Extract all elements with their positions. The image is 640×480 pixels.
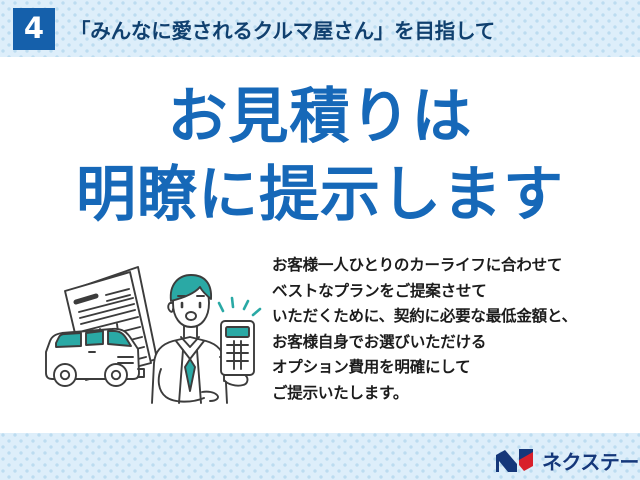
body-copy-line: お客様自身でお選びいただける	[272, 330, 632, 356]
brand-logo: ネクステージ	[495, 446, 640, 474]
headline-line-2: 明瞭に提示します	[0, 165, 640, 225]
headline-line-1: お見積りは	[0, 87, 640, 147]
body-copy-line: ご提示いたします。	[272, 381, 632, 407]
body-copy-line: ベストなプランをご提案させて	[272, 279, 632, 305]
promo-banner: 4 「みんなに愛されるクルマ屋さん」を目指して お見積りは 明瞭に提示します お…	[0, 0, 640, 480]
brand-name: ネクステージ	[542, 446, 640, 475]
step-number-badge: 4	[13, 8, 55, 50]
content-panel: お見積りは 明瞭に提示します お客様一人ひとりのカーライフに合わせて ベストなプ…	[0, 63, 640, 433]
body-copy-line: いただくために、契約に必要な最低金額と、	[272, 304, 632, 330]
sparkle-icon	[219, 298, 260, 315]
illustration-salesperson-estimate	[34, 251, 266, 413]
nextage-n-mark-icon	[495, 448, 535, 473]
calculator-illustration	[221, 321, 254, 375]
body-copy-line: オプション費用を明確にして	[272, 355, 632, 381]
van-illustration	[46, 329, 144, 386]
banner-header: 4 「みんなに愛されるクルマ屋さん」を目指して	[0, 0, 640, 57]
body-copy-line: お客様一人ひとりのカーライフに合わせて	[272, 253, 632, 279]
header-title: 「みんなに愛されるクルマ屋さん」を目指して	[70, 14, 495, 44]
body-copy: お客様一人ひとりのカーライフに合わせて ベストなプランをご提案させて いただくた…	[272, 253, 632, 406]
